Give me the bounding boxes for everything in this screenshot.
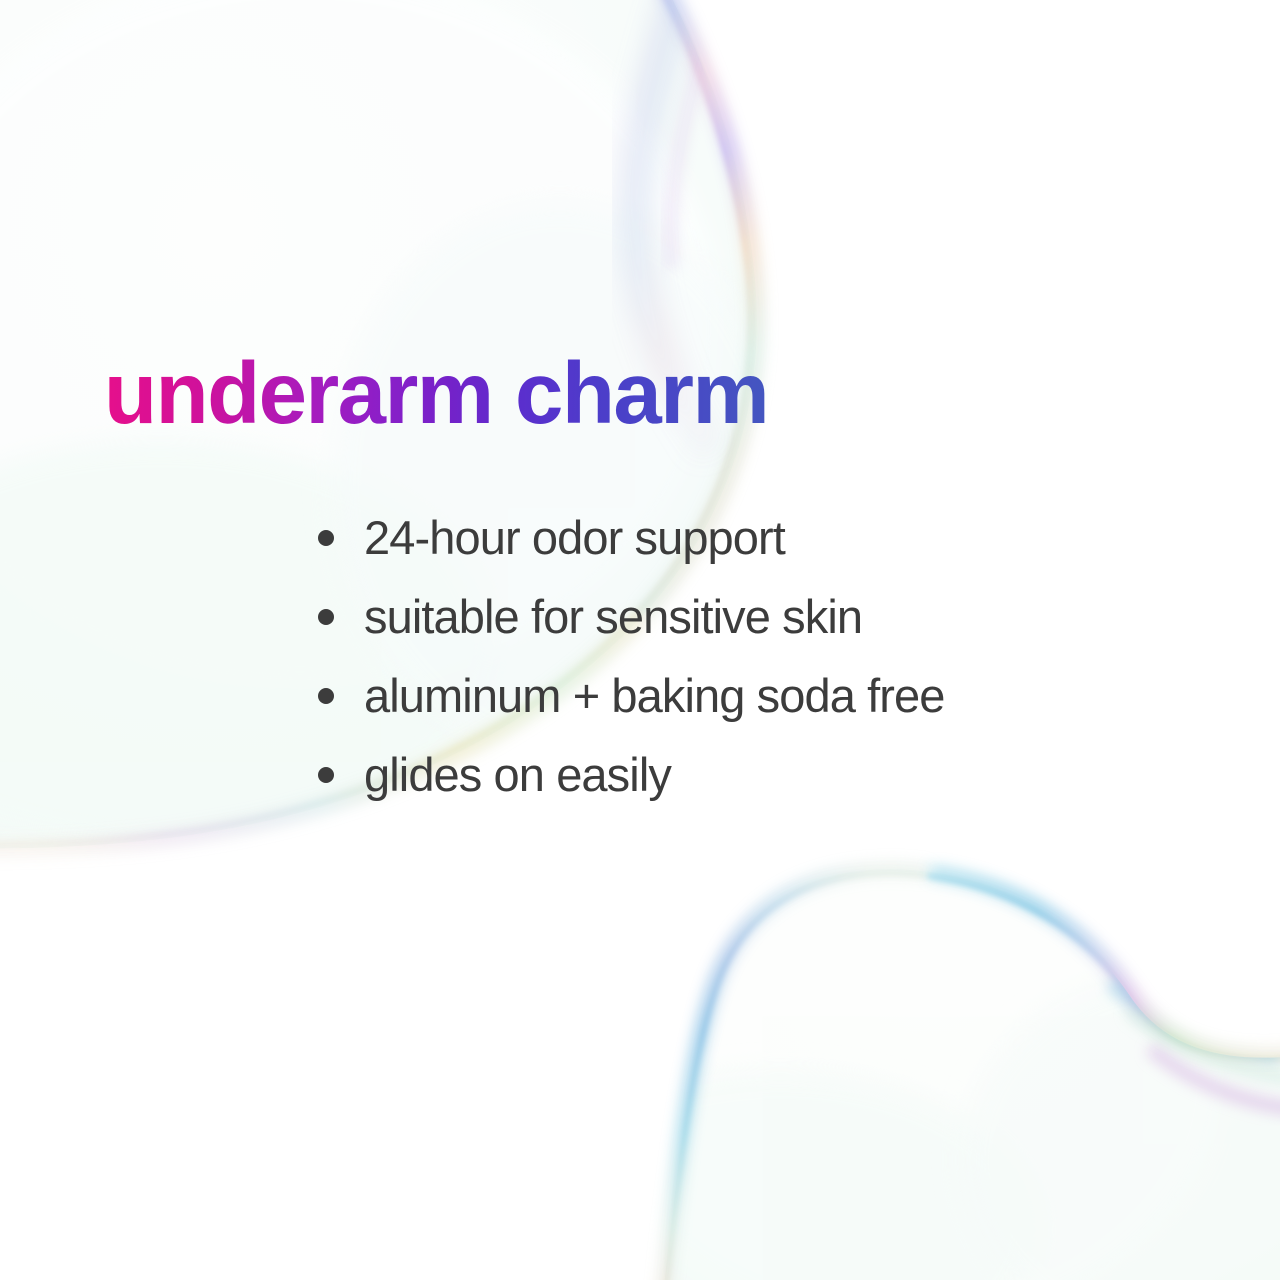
bullet-icon (318, 530, 334, 546)
feature-label: aluminum + baking soda free (364, 672, 945, 719)
feature-label: 24-hour odor support (364, 514, 785, 561)
bullet-icon (318, 609, 334, 625)
bullet-icon (318, 688, 334, 704)
feature-label: suitable for sensitive skin (364, 593, 862, 640)
list-item: 24-hour odor support (318, 498, 945, 577)
promo-content: underarm charm 24-hour odor support suit… (0, 0, 1280, 1280)
page-title: underarm charm (104, 350, 768, 437)
promo-canvas: underarm charm 24-hour odor support suit… (0, 0, 1280, 1280)
bullet-icon (318, 767, 334, 783)
feature-label: glides on easily (364, 751, 671, 798)
list-item: glides on easily (318, 735, 945, 814)
list-item: suitable for sensitive skin (318, 577, 945, 656)
feature-list: 24-hour odor support suitable for sensit… (318, 498, 945, 814)
list-item: aluminum + baking soda free (318, 656, 945, 735)
